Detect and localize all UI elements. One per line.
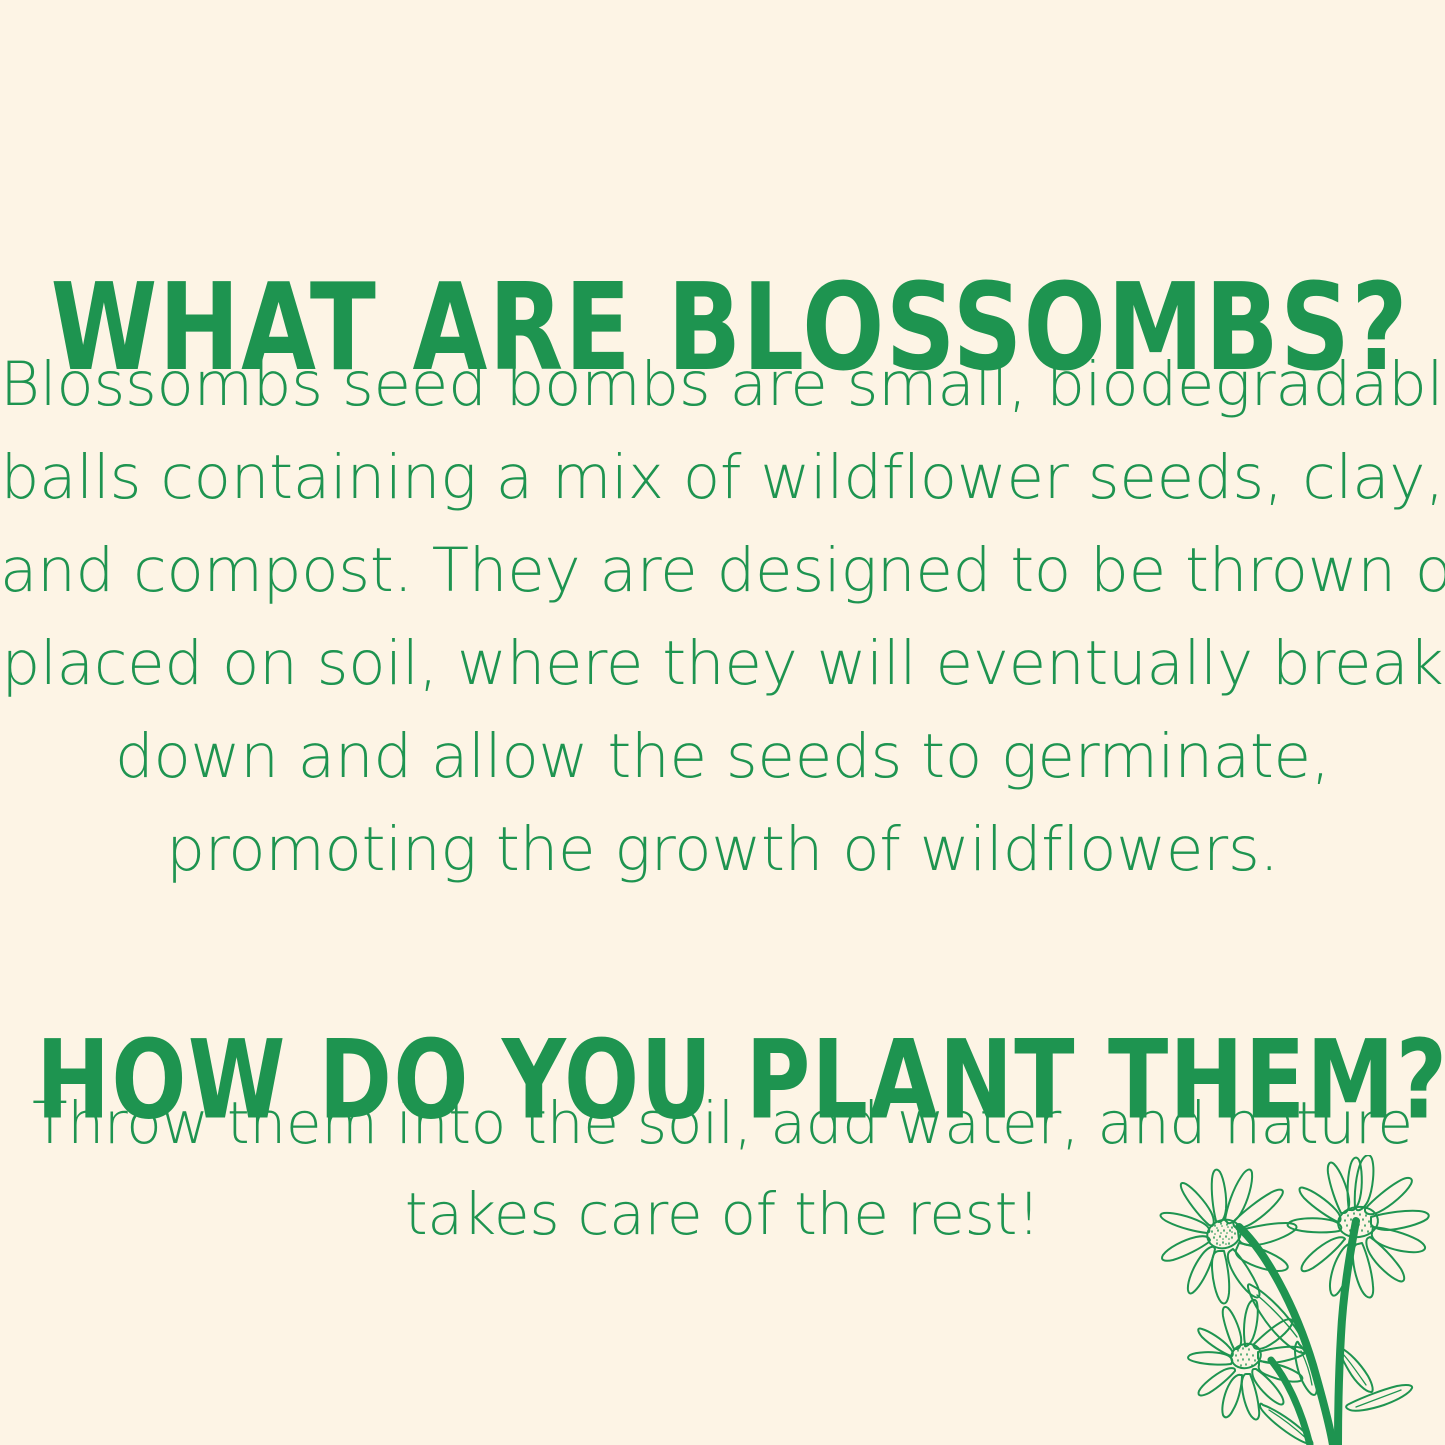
body-line: Throw them into the soil, add water, and…: [0, 1078, 1445, 1169]
body-line: Blossombs seed bombs are small, biodegra…: [0, 338, 1445, 431]
body-line: and compost. They are designed to be thr…: [0, 524, 1445, 617]
body-line: takes care of the rest!: [0, 1169, 1445, 1260]
info-card: WHAT ARE BLOSSOMBS? Blossombs seed bombs…: [0, 0, 1445, 1445]
body-line: promoting the growth of wildflowers.: [0, 803, 1445, 896]
body-line: placed on soil, where they will eventual…: [0, 617, 1445, 710]
body-paragraph-what-are-blossombs: Blossombs seed bombs are small, biodegra…: [0, 338, 1445, 896]
body-paragraph-how-do-you-plant-them: Throw them into the soil, add water, and…: [0, 1078, 1445, 1260]
body-line: balls containing a mix of wildflower see…: [0, 431, 1445, 524]
body-line: down and allow the seeds to germinate,: [0, 710, 1445, 803]
